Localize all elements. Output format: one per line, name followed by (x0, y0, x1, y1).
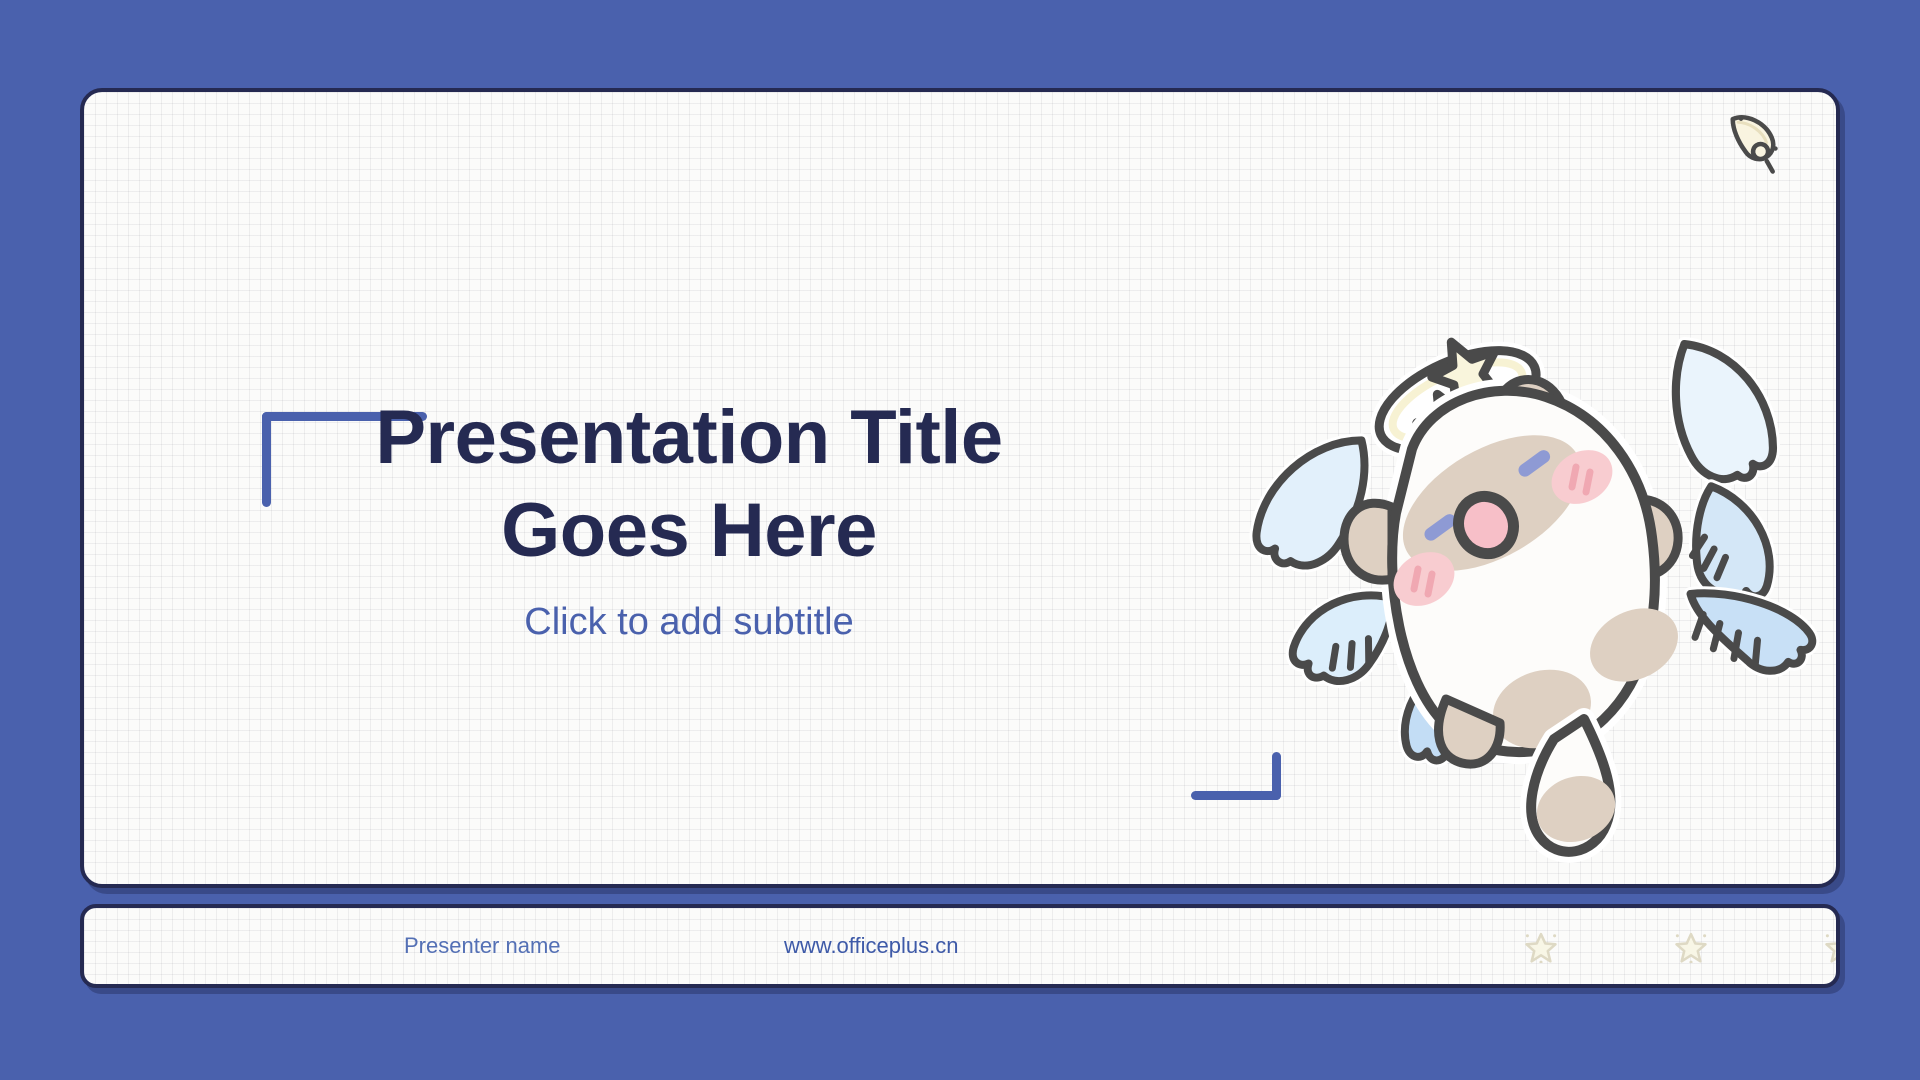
ear-left (1344, 503, 1392, 580)
comet-icon (1714, 104, 1794, 184)
footer-panel[interactable]: Presenter name www.officeplus.cn (80, 904, 1840, 988)
wing-upper-right (1648, 342, 1797, 492)
star-icon (1674, 929, 1708, 963)
star-icon (1824, 929, 1840, 963)
footer-content: Presenter name www.officeplus.cn (84, 908, 1836, 984)
slide-panel[interactable]: Presentation Title Goes Here Click to ad… (80, 88, 1840, 888)
tail (1527, 719, 1624, 853)
slide-canvas: Presentation Title Goes Here Click to ad… (0, 0, 1920, 1080)
presenter-name-label[interactable]: Presenter name (404, 933, 561, 959)
star-icon (1524, 929, 1558, 963)
site-url-label[interactable]: www.officeplus.cn (784, 933, 958, 959)
wing-mid-left (1291, 590, 1394, 684)
title-text-block: Presentation Title Goes Here Click to ad… (274, 392, 1104, 644)
bracket-vertical-bar (262, 412, 271, 507)
page-title[interactable]: Presentation Title Goes Here (274, 392, 1104, 577)
winged-cat-sticker-illustration (1224, 327, 1840, 887)
wing-lower-right (1680, 588, 1818, 677)
subtitle-placeholder[interactable]: Click to add subtitle (274, 601, 1104, 644)
